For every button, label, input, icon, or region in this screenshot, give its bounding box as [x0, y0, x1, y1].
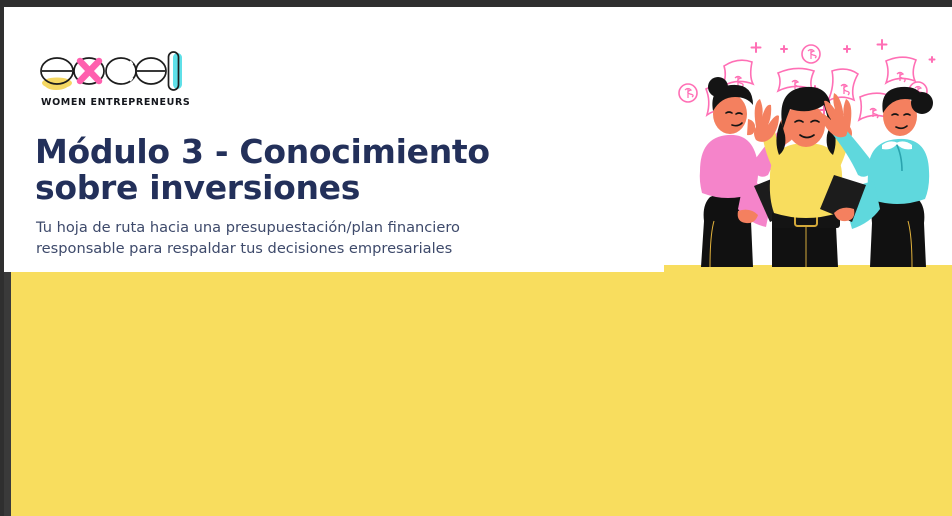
three-women-high-five-money-illustration — [664, 21, 952, 272]
excel-wordmark-icon — [37, 49, 189, 93]
page-subtitle: Tu hoja de ruta hacia una presupuestació… — [36, 218, 536, 259]
page-title: Módulo 3 - Conocimiento sobre inversione… — [35, 134, 555, 206]
window-left-edge-lower — [4, 272, 11, 516]
slide-page: WOMEN ENTREPRENEURS Módulo 3 - Conocimie… — [0, 0, 952, 516]
yellow-band-section: Pasos para la toma de decisiones 1 Defin… — [4, 272, 952, 516]
window-top-edge — [0, 0, 952, 7]
brand-tagline: WOMEN ENTREPRENEURS — [41, 97, 190, 108]
hero-section: WOMEN ENTREPRENEURS Módulo 3 - Conocimie… — [4, 7, 952, 272]
brand-logo: WOMEN ENTREPRENEURS — [37, 49, 189, 111]
